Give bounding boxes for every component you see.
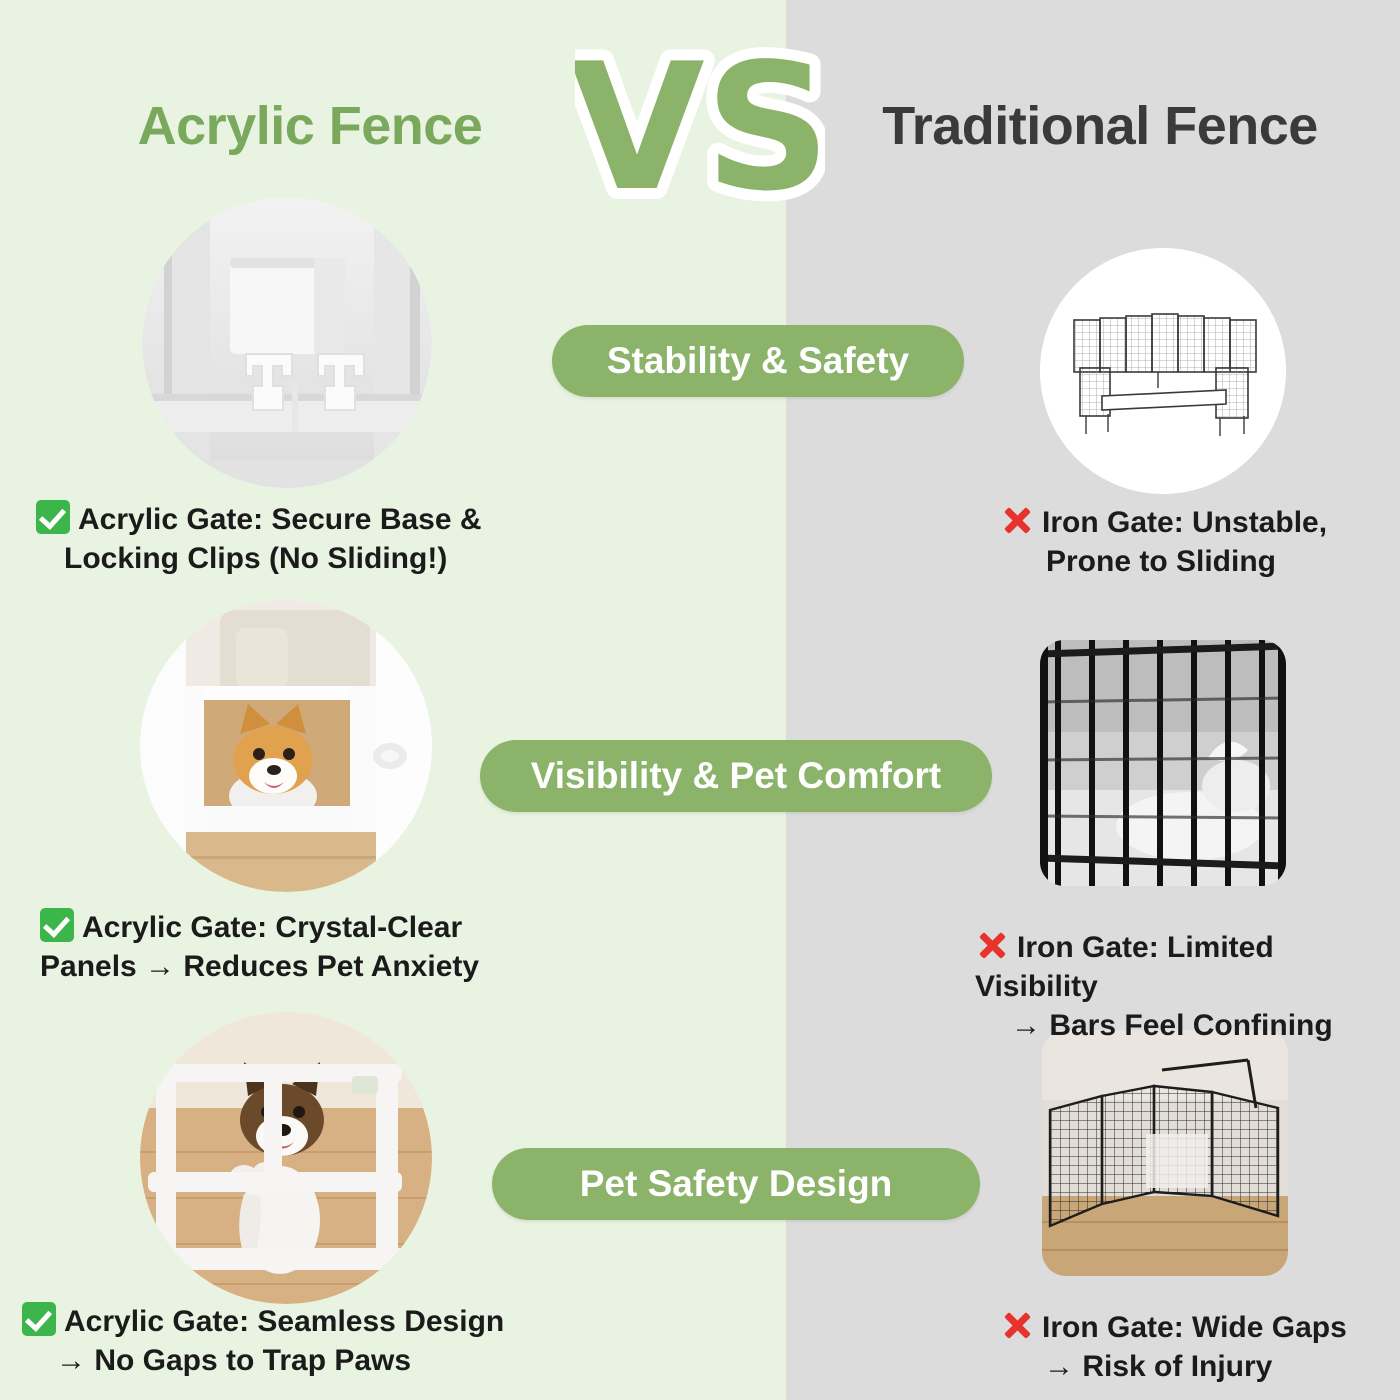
right-title: Traditional Fence [830, 95, 1370, 157]
pill-visibility-comfort: Visibility & Pet Comfort [480, 740, 992, 812]
comparison-infographic: Acrylic Fence Traditional Fence VS VS St… [0, 0, 1400, 1400]
caption-line-1: Iron Gate: Wide Gaps [1042, 1311, 1347, 1344]
image-wire-playpen-outline [1040, 248, 1286, 494]
caption-line-2: Locking Clips (No Sliding!) [64, 539, 576, 578]
caption-line-2: → Bars Feel Confining [1011, 1006, 1395, 1045]
image-dog-behind-bars [1040, 640, 1286, 886]
caption-line-1: Iron Gate: Unstable, [1042, 506, 1327, 539]
caption-acrylic-stability: Acrylic Gate: Secure Base & Locking Clip… [36, 500, 576, 578]
check-icon [40, 908, 74, 942]
caption-acrylic-visibility: Acrylic Gate: Crystal-Clear Panels → Red… [40, 908, 580, 986]
pill-pet-safety-design: Pet Safety Design [492, 1148, 980, 1220]
caption-line-2: Panels → Reduces Pet Anxiety [40, 947, 580, 986]
cross-icon [1000, 1308, 1034, 1342]
caption-iron-stability: Iron Gate: Unstable, Prone to Sliding [1000, 503, 1400, 581]
cross-icon [975, 928, 1009, 962]
caption-line-2: → Risk of Injury [1044, 1347, 1400, 1386]
check-icon [36, 500, 70, 534]
caption-iron-visibility: Iron Gate: Limited Visibility → Bars Fee… [975, 928, 1395, 1045]
cross-icon [1000, 503, 1034, 537]
caption-acrylic-safety: Acrylic Gate: Seamless Design → No Gaps … [22, 1302, 582, 1380]
caption-line-1: Acrylic Gate: Secure Base & [78, 503, 482, 536]
pill-stability-safety: Stability & Safety [552, 325, 964, 397]
image-corgi-clear-panel [140, 600, 432, 892]
image-dog-in-acrylic-playpen [140, 1012, 432, 1304]
caption-line-2: → No Gaps to Trap Paws [56, 1341, 582, 1380]
vs-badge: VS VS [575, 18, 825, 233]
vs-text: VS [575, 27, 825, 230]
caption-line-1: Acrylic Gate: Crystal-Clear [82, 911, 462, 944]
image-metal-playpen-room [1042, 1030, 1288, 1276]
caption-iron-safety: Iron Gate: Wide Gaps → Risk of Injury [1000, 1308, 1400, 1386]
image-acrylic-gate-clip [142, 198, 432, 488]
check-icon [22, 1302, 56, 1336]
caption-line-1: Acrylic Gate: Seamless Design [64, 1305, 504, 1338]
left-title: Acrylic Fence [40, 95, 580, 157]
caption-line-2: Prone to Sliding [1046, 542, 1400, 581]
caption-line-1: Iron Gate: Limited Visibility [975, 931, 1274, 1003]
